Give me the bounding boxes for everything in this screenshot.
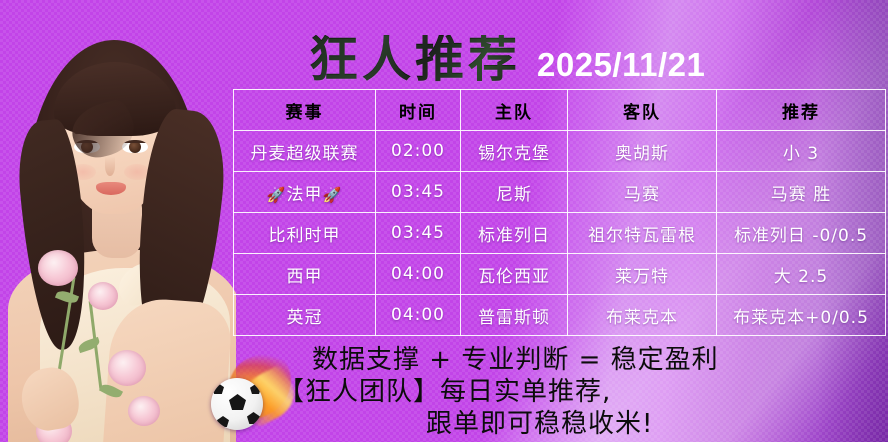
nose xyxy=(105,156,115,176)
league-name: 西甲 xyxy=(287,267,323,287)
cell-home: 尼斯 xyxy=(461,172,568,213)
cell-league: 🚀法甲🚀 xyxy=(234,172,376,213)
table-row: 🚀法甲🚀 03:45 尼斯 马赛 马赛 胜 xyxy=(234,172,886,213)
table-row: 比利时甲 03:45 标准列日 祖尔特瓦雷根 标准列日 -0/0.5 xyxy=(234,213,886,254)
promo-poster: 狂人推荐 2025/11/21 赛事 时间 主队 客队 推荐 丹麦超级联赛 02… xyxy=(0,0,888,442)
cell-time: 03:45 xyxy=(376,172,461,213)
carnation-flower xyxy=(88,282,118,310)
table-row: 英冠 04:00 普雷斯顿 布莱克本 布莱克本+0/0.5 xyxy=(234,295,886,336)
cell-home: 锡尔克堡 xyxy=(461,131,568,172)
cell-away: 布莱克本 xyxy=(568,295,717,336)
cell-away: 马赛 xyxy=(568,172,717,213)
cell-league: 西甲 xyxy=(234,254,376,295)
page-title: 狂人推荐 xyxy=(309,35,521,84)
poster-date: 2025/11/21 xyxy=(537,48,705,84)
league-name: 法甲 xyxy=(287,185,323,205)
matches-table: 赛事 时间 主队 客队 推荐 丹麦超级联赛 02:00 锡尔克堡 奥胡斯 小 3… xyxy=(233,89,886,336)
model-photo xyxy=(0,0,236,442)
poster-header: 狂人推荐 2025/11/21 xyxy=(233,18,884,84)
rocket-icon: 🚀 xyxy=(323,186,343,204)
table-header-row: 赛事 时间 主队 客队 推荐 xyxy=(234,90,886,131)
cell-home: 标准列日 xyxy=(461,213,568,254)
cell-league: 丹麦超级联赛 xyxy=(234,131,376,172)
cell-pick: 小 3 xyxy=(717,131,886,172)
slogan-line-2: 【狂人团队】每日实单推荐, xyxy=(236,376,888,408)
cell-pick: 标准列日 -0/0.5 xyxy=(717,213,886,254)
carnation-flower xyxy=(38,250,78,286)
cell-time: 04:00 xyxy=(376,295,461,336)
league-name: 丹麦超级联赛 xyxy=(251,144,359,164)
slogan-line-3: 跟单即可稳稳收米! xyxy=(236,408,888,440)
column-header-time: 时间 xyxy=(376,90,461,131)
cell-pick: 马赛 胜 xyxy=(717,172,886,213)
cell-time: 04:00 xyxy=(376,254,461,295)
column-header-league: 赛事 xyxy=(234,90,376,131)
rocket-icon: 🚀 xyxy=(267,186,287,204)
cell-pick: 大 2.5 xyxy=(717,254,886,295)
column-header-pick: 推荐 xyxy=(717,90,886,131)
cell-time: 02:00 xyxy=(376,131,461,172)
table-body: 丹麦超级联赛 02:00 锡尔克堡 奥胡斯 小 3 🚀法甲🚀 03:45 尼斯 … xyxy=(234,131,886,336)
cell-home: 瓦伦西亚 xyxy=(461,254,568,295)
carnation-flower xyxy=(108,350,146,386)
cell-pick: 布莱克本+0/0.5 xyxy=(717,295,886,336)
table-row: 西甲 04:00 瓦伦西亚 莱万特 大 2.5 xyxy=(234,254,886,295)
table-row: 丹麦超级联赛 02:00 锡尔克堡 奥胡斯 小 3 xyxy=(234,131,886,172)
cell-time: 03:45 xyxy=(376,213,461,254)
slogan-line-1: 数据支撑 + 专业判断 = 稳定盈利 xyxy=(236,344,888,376)
column-header-home: 主队 xyxy=(461,90,568,131)
cell-away: 祖尔特瓦雷根 xyxy=(568,213,717,254)
carnation-flower xyxy=(128,396,160,426)
column-header-away: 客队 xyxy=(568,90,717,131)
cell-away: 莱万特 xyxy=(568,254,717,295)
cell-league: 英冠 xyxy=(234,295,376,336)
league-name: 比利时甲 xyxy=(269,226,341,246)
cell-away: 奥胡斯 xyxy=(568,131,717,172)
league-name: 英冠 xyxy=(287,308,323,328)
slogan-block: 数据支撑 + 专业判断 = 稳定盈利 【狂人团队】每日实单推荐, 跟单即可稳稳收… xyxy=(236,344,888,442)
cell-league: 比利时甲 xyxy=(234,213,376,254)
cell-home: 普雷斯顿 xyxy=(461,295,568,336)
